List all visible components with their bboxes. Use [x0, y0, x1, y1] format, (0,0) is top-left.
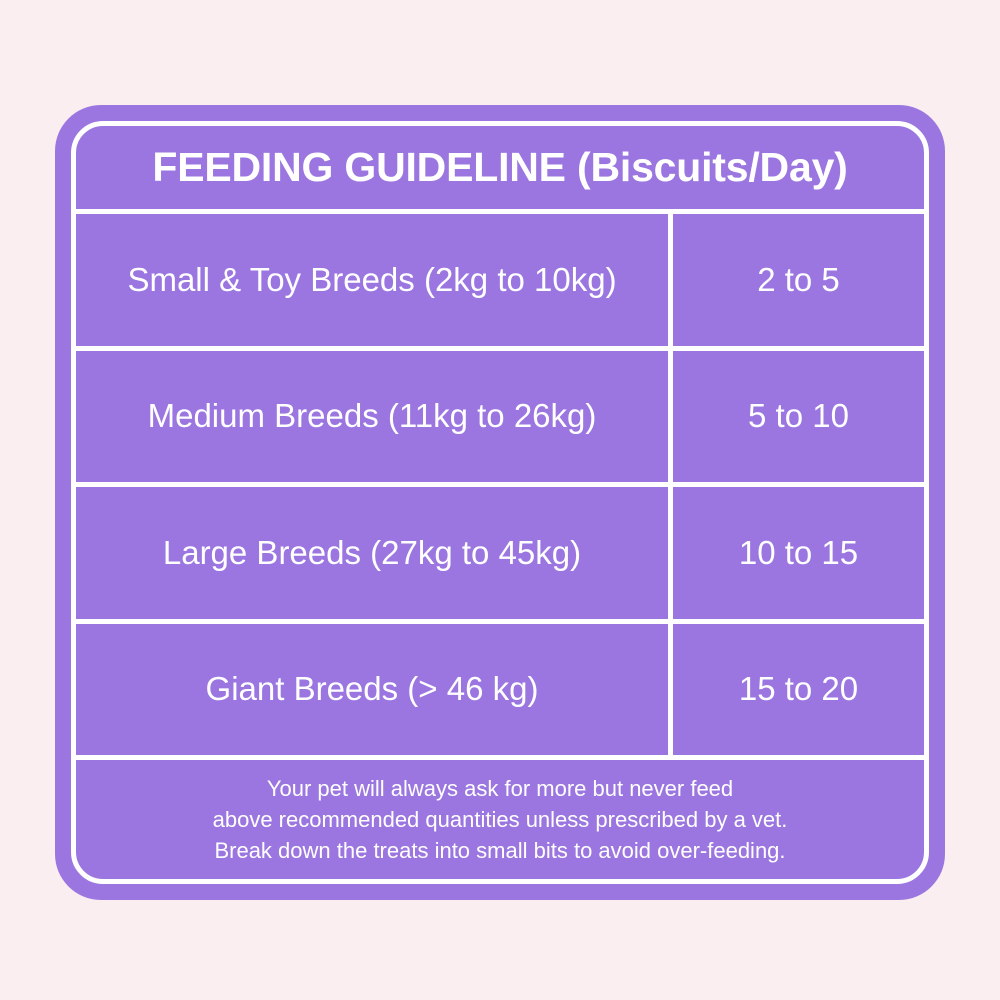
breed-cell: Large Breeds (27kg to 45kg) [76, 487, 673, 619]
breed-cell: Small & Toy Breeds (2kg to 10kg) [76, 214, 673, 346]
table-row: Medium Breeds (11kg to 26kg) 5 to 10 [76, 351, 924, 488]
footer-note-line-2: above recommended quantities unless pres… [213, 804, 788, 835]
table-title: FEEDING GUIDELINE (Biscuits/Day) [152, 147, 847, 188]
amount-cell: 2 to 5 [673, 214, 924, 346]
table-footer-note: Your pet will always ask for more but ne… [76, 760, 924, 879]
amount-cell: 15 to 20 [673, 624, 924, 756]
feeding-guideline-table: FEEDING GUIDELINE (Biscuits/Day) Small &… [71, 121, 929, 884]
footer-note-line-3: Break down the treats into small bits to… [213, 835, 788, 866]
table-row: Large Breeds (27kg to 45kg) 10 to 15 [76, 487, 924, 624]
breed-cell: Medium Breeds (11kg to 26kg) [76, 351, 673, 483]
footer-note-line-1: Your pet will always ask for more but ne… [213, 773, 788, 804]
feeding-guideline-card: FEEDING GUIDELINE (Biscuits/Day) Small &… [55, 105, 945, 900]
breed-cell: Giant Breeds (> 46 kg) [76, 624, 673, 756]
table-row: Small & Toy Breeds (2kg to 10kg) 2 to 5 [76, 214, 924, 351]
amount-cell: 5 to 10 [673, 351, 924, 483]
footer-note-text: Your pet will always ask for more but ne… [213, 773, 788, 867]
table-header-row: FEEDING GUIDELINE (Biscuits/Day) [76, 126, 924, 214]
amount-cell: 10 to 15 [673, 487, 924, 619]
table-row: Giant Breeds (> 46 kg) 15 to 20 [76, 624, 924, 761]
feeding-guideline-graphic: FEEDING GUIDELINE (Biscuits/Day) Small &… [0, 0, 1000, 1000]
